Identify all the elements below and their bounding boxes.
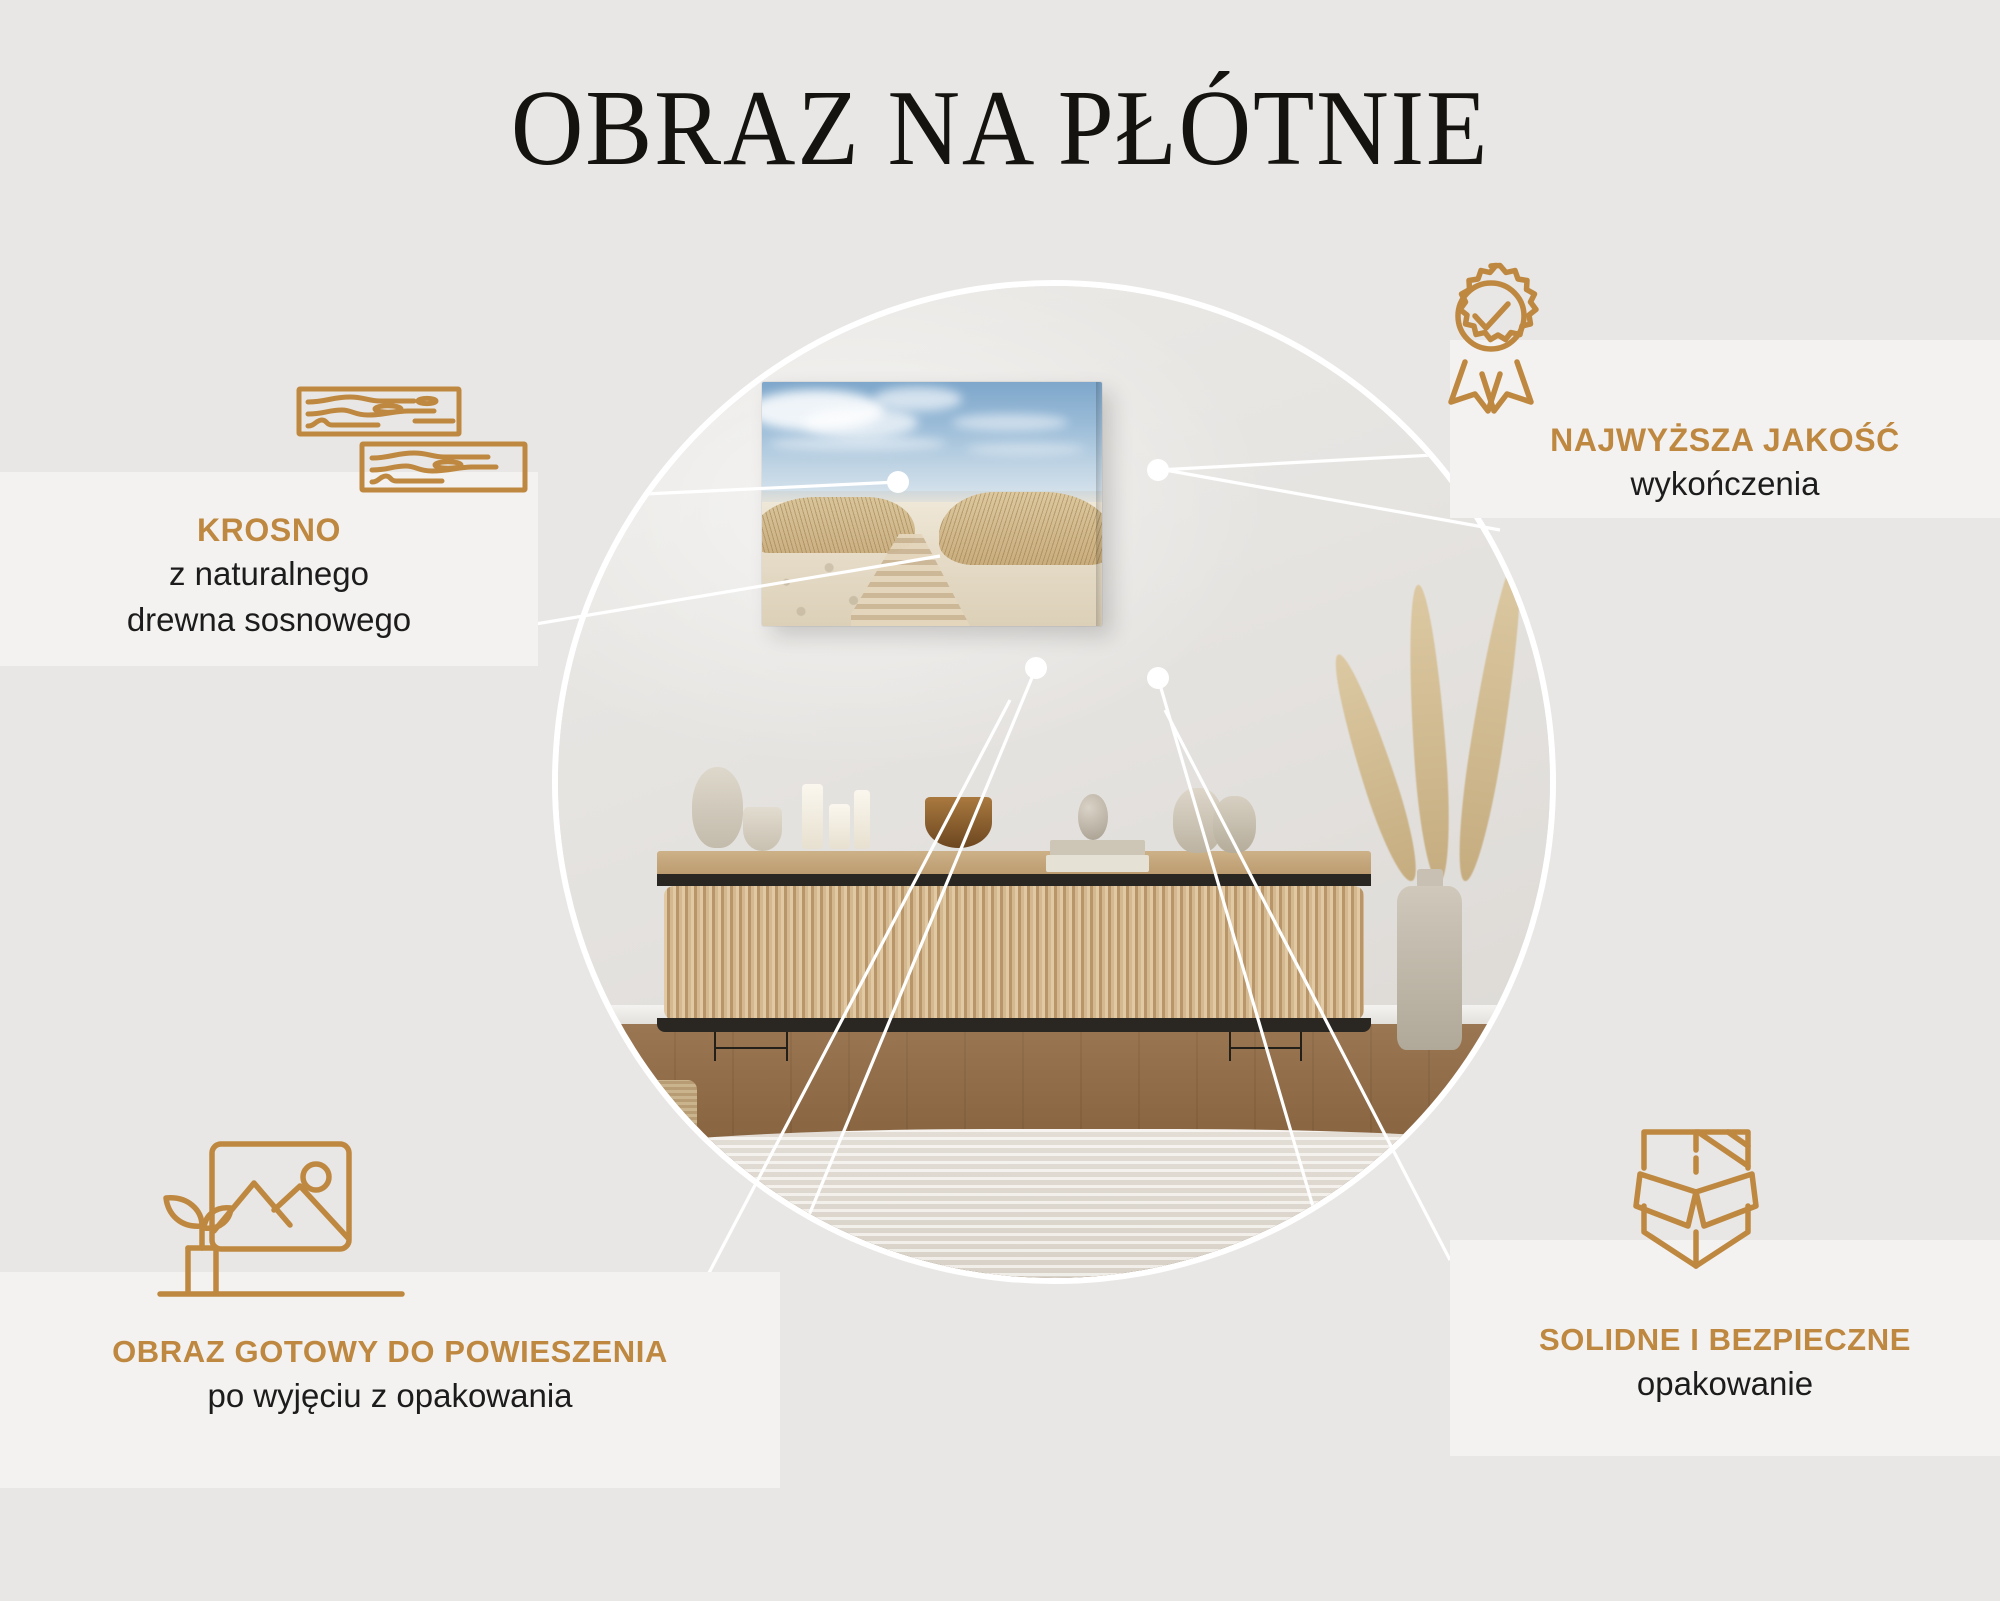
feature-heading: NAJWYŻSZA JAKOŚĆ bbox=[1450, 422, 2000, 459]
award-badge-check-icon bbox=[1424, 258, 1558, 423]
feature-label-ready-to-hang: OBRAZ GOTOWY DO POWIESZENIA po wyjęciu z… bbox=[0, 1334, 780, 1417]
cloud-icon bbox=[952, 414, 1067, 431]
cloud-icon bbox=[803, 407, 918, 439]
canvas-side-edge bbox=[1096, 382, 1102, 626]
sideboard-leg-bar bbox=[714, 1047, 785, 1049]
decor-candle bbox=[854, 790, 871, 850]
decor-small-bowl bbox=[743, 807, 783, 852]
room-scene-circle bbox=[558, 286, 1550, 1278]
sideboard-top-trim bbox=[657, 874, 1371, 886]
feature-heading: KROSNO bbox=[0, 512, 538, 549]
feature-heading: OBRAZ GOTOWY DO POWIESZENIA bbox=[0, 1334, 780, 1370]
feature-text-line-1: wykończenia bbox=[1450, 464, 2000, 505]
cloud-icon bbox=[769, 436, 945, 451]
decor-vase bbox=[1213, 796, 1257, 854]
sideboard-fluted-front bbox=[664, 886, 1364, 1020]
sideboard-leg-bar bbox=[1229, 1047, 1300, 1049]
framed-picture-plant-icon bbox=[150, 1136, 410, 1321]
decor-book bbox=[1046, 855, 1149, 872]
sideboard-bottom-trim bbox=[657, 1018, 1371, 1032]
feature-text-line-2: drewna sosnowego bbox=[0, 600, 538, 641]
decor-book bbox=[1050, 840, 1145, 857]
wood-planks-icon bbox=[296, 386, 528, 501]
sideboard-leg bbox=[786, 1032, 788, 1060]
decor-stone-sphere bbox=[1078, 794, 1108, 840]
page-title: OBRAZ NA PŁÓTNIE bbox=[70, 74, 1930, 184]
feature-heading: SOLIDNE I BEZPIECZNE bbox=[1450, 1322, 2000, 1358]
artwork-footprints bbox=[762, 553, 884, 626]
feature-text-line-1: po wyjęciu z opakowania bbox=[0, 1376, 780, 1417]
feature-label-packaging: SOLIDNE I BEZPIECZNE opakowanie bbox=[1450, 1322, 2000, 1405]
feature-text-line-1: z naturalnego bbox=[0, 554, 538, 595]
feature-label-krosno: KROSNO z naturalnego drewna sosnowego bbox=[0, 512, 538, 641]
decor-round-vase bbox=[692, 767, 744, 848]
canvas-artwork-beach bbox=[762, 382, 1101, 626]
feature-label-quality: NAJWYŻSZA JAKOŚĆ wykończenia bbox=[1450, 422, 2000, 505]
infographic-root: OBRAZ NA PŁÓTNIE bbox=[0, 0, 2000, 1601]
artwork-dune-grass-right bbox=[939, 492, 1102, 565]
living-room-scene bbox=[558, 286, 1550, 1278]
wicker-basket bbox=[618, 1080, 697, 1159]
artwork-dune-grass-left bbox=[762, 497, 915, 553]
area-rug bbox=[558, 1129, 1550, 1278]
open-cardboard-box-icon bbox=[1628, 1122, 1778, 1287]
decor-candle bbox=[802, 784, 823, 849]
sideboard bbox=[657, 851, 1371, 1054]
sideboard-leg bbox=[1300, 1032, 1302, 1060]
decor-candle bbox=[829, 804, 850, 850]
sideboard-top bbox=[657, 851, 1371, 875]
floor-vase bbox=[1397, 886, 1461, 1050]
feature-text-line-1: opakowanie bbox=[1450, 1364, 2000, 1405]
